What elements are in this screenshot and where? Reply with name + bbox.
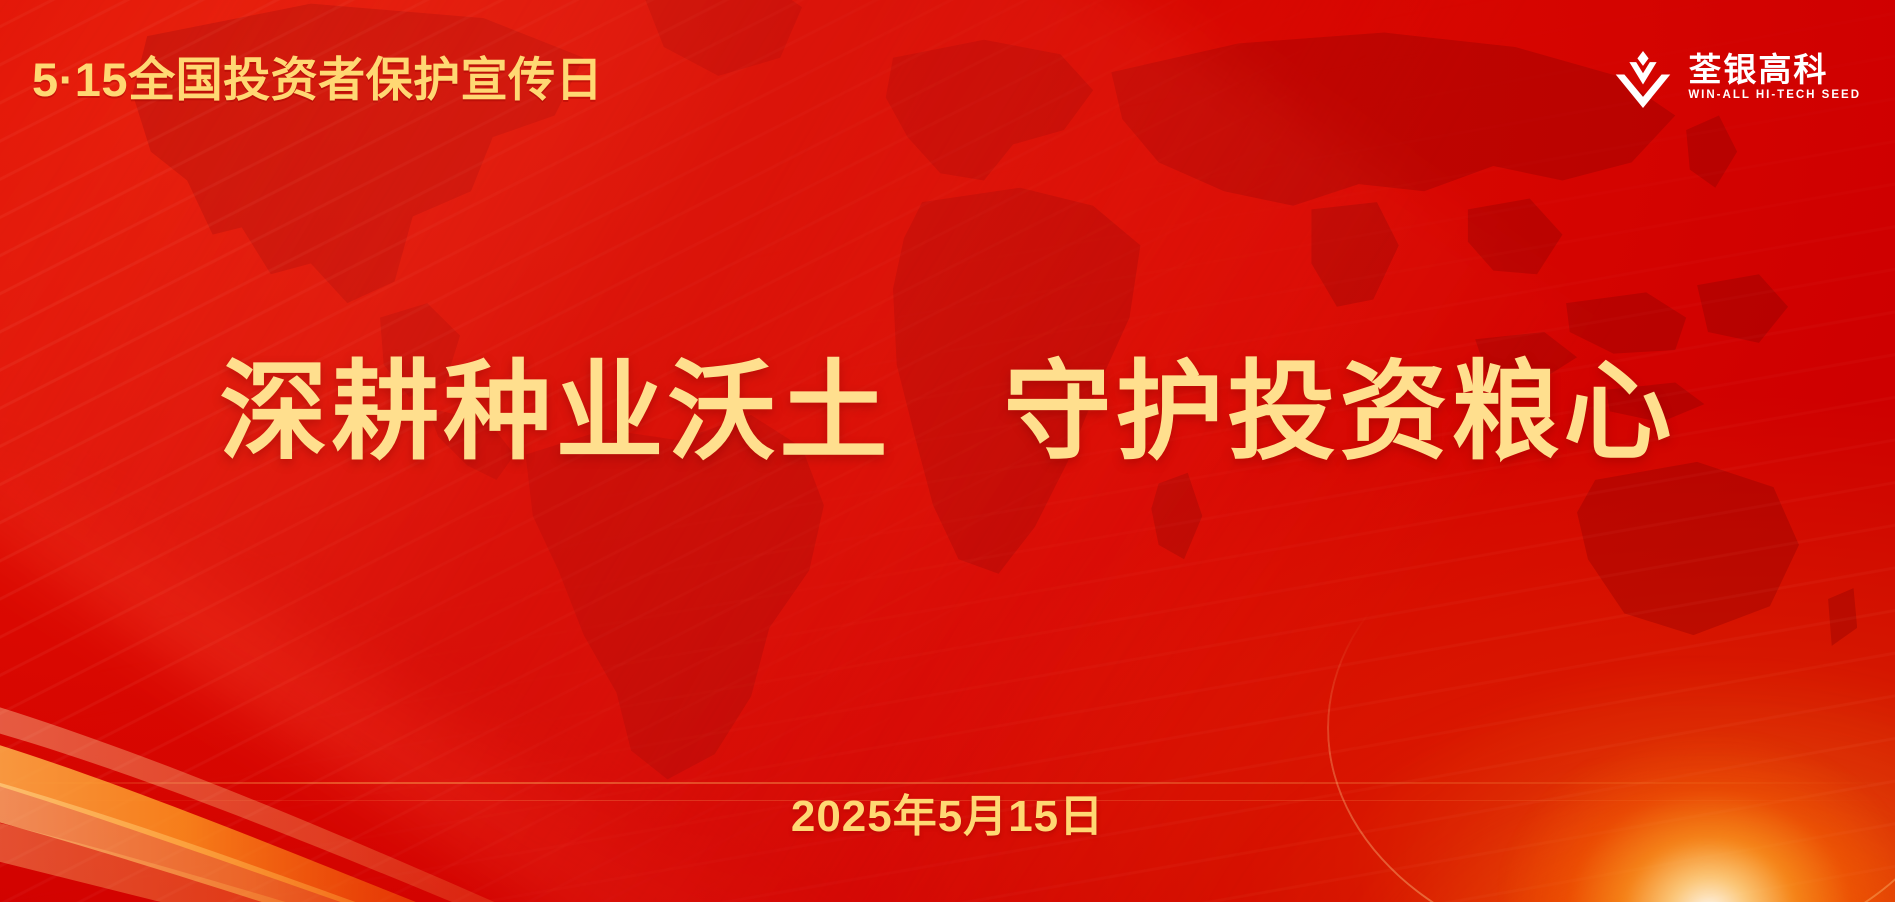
company-logo[interactable]: 荃银高科 WIN-ALL HI-TECH SEED (1612, 46, 1861, 108)
main-headline: 深耕种业沃土 守护投资粮心 (0, 352, 1895, 473)
investor-protection-day-banner: 5·15全国投资者保护宣传日 荃银高科 WIN-ALL HI-TECH SEE (0, 0, 1895, 902)
company-name-en: WIN-ALL HI-TECH SEED (1688, 90, 1861, 102)
company-logo-text: 荃银高科 WIN-ALL HI-TECH SEED (1688, 53, 1861, 102)
banner-content: 5·15全国投资者保护宣传日 荃银高科 WIN-ALL HI-TECH SEE (0, 0, 1895, 902)
company-name-cn: 荃银高科 (1688, 53, 1861, 86)
win-all-chevron-logo-icon (1612, 46, 1674, 108)
event-title: 5·15全国投资者保护宣传日 (32, 56, 603, 103)
event-date: 2025年5月15日 (0, 795, 1895, 839)
